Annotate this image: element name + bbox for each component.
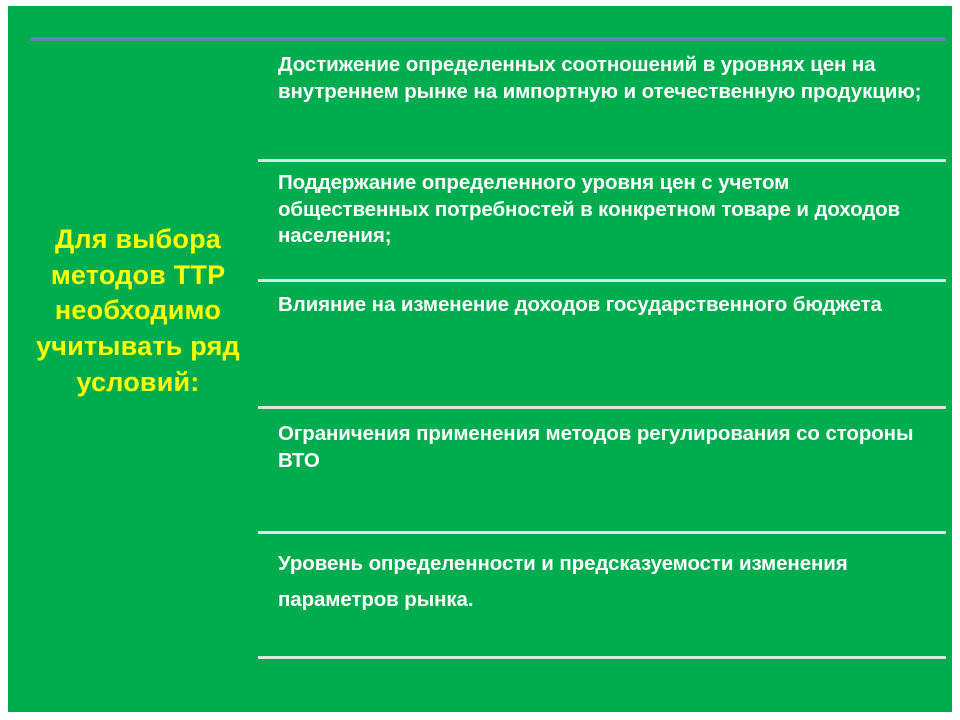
condition-text-3: Влияние на изменение доходов государстве… — [278, 292, 940, 319]
condition-text-5: Уровень определенности и предсказуемости… — [278, 546, 940, 618]
list-item: Влияние на изменение доходов государстве… — [258, 282, 946, 406]
list-item: Достижение определенных соотношений в ур… — [258, 40, 946, 159]
list-item: Уровень определенности и предсказуемости… — [258, 534, 946, 656]
condition-text-4: Ограничения применения методов регулиров… — [278, 421, 940, 474]
conditions-list: Достижение определенных соотношений в ур… — [258, 40, 946, 670]
list-item: Поддержание определенного уровня цен с у… — [258, 162, 946, 279]
list-divider-5 — [258, 656, 946, 659]
list-item: Ограничения применения методов регулиров… — [258, 409, 946, 531]
condition-text-2: Поддержание определенного уровня цен с у… — [278, 170, 940, 250]
condition-text-1: Достижение определенных соотношений в ур… — [278, 52, 940, 105]
slide-canvas: Для выбора методов ТТР необходимо учитыв… — [8, 6, 952, 712]
page-title: Для выбора методов ТТР необходимо учитыв… — [22, 222, 254, 400]
